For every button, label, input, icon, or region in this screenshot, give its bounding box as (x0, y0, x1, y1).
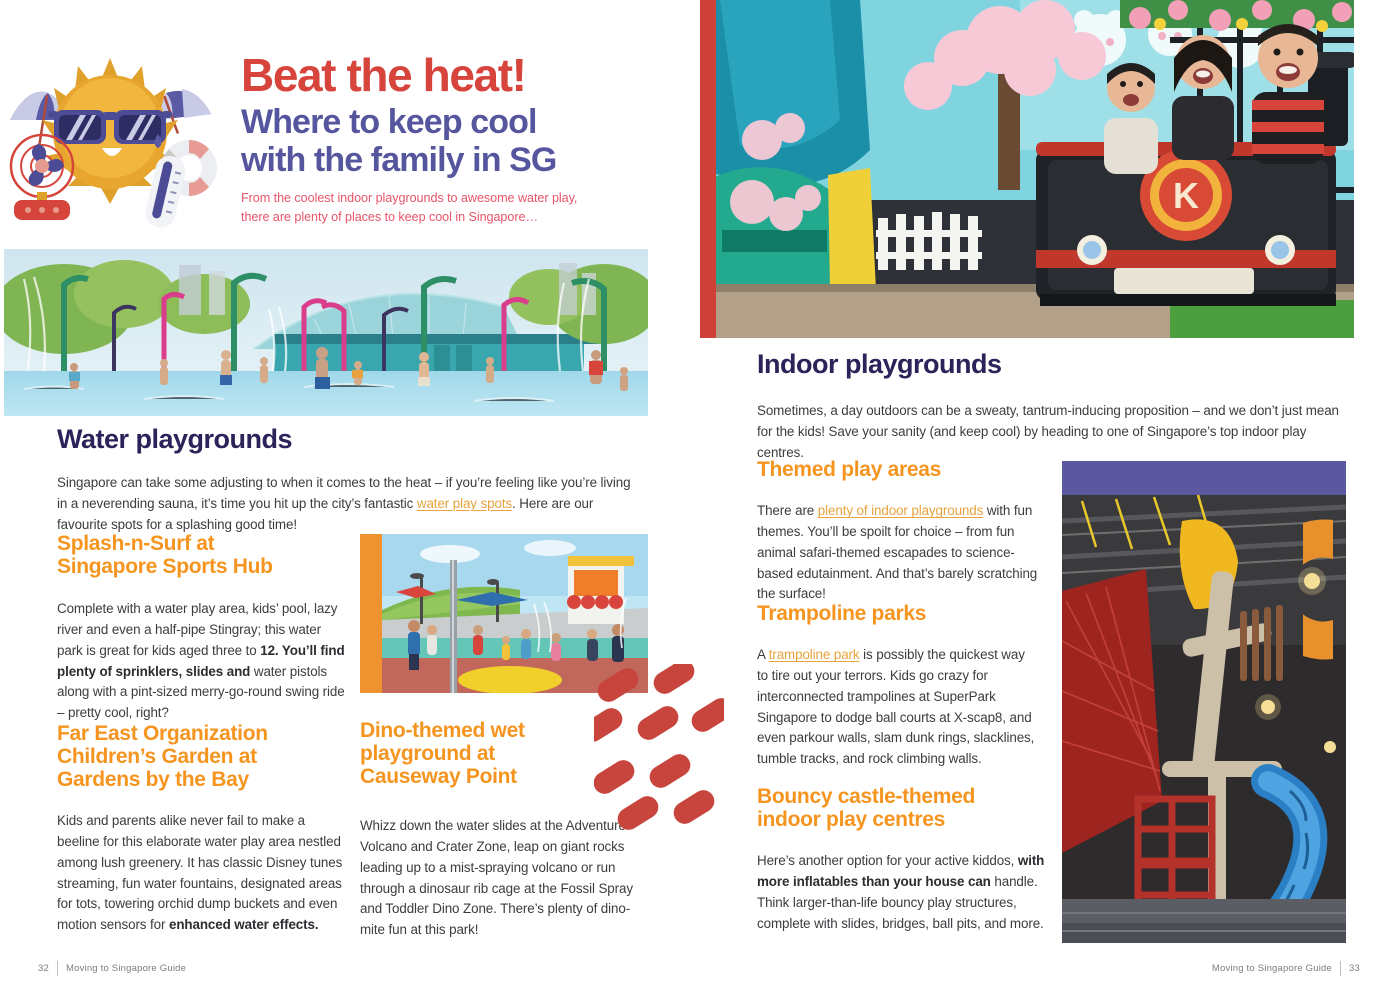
water-playground-banner-photo (4, 249, 648, 416)
subheading-themed-play-areas: Themed play areas (757, 458, 1047, 481)
tpa-text-pre: There are (757, 503, 818, 518)
trampoline-park-link[interactable]: trampoline park (769, 647, 860, 662)
footer-right: Moving to Singapore Guide 33 (1212, 961, 1360, 976)
bc-text-a: Here’s another option for your active ki… (757, 853, 1018, 868)
feo-text-bold: enhanced water effects. (169, 917, 319, 932)
section-heading-indoor-playgrounds: Indoor playgrounds (757, 350, 1347, 379)
magazine-spread: Beat the heat! Where to keep cool with t… (0, 0, 1400, 1000)
subheading-splash-n-surf: Splash-n-Surf at Singapore Sports Hub (57, 532, 347, 578)
water-play-spots-link[interactable]: water play spots (417, 496, 512, 511)
far-east-organization-body: Kids and parents alike never fail to mak… (57, 811, 347, 936)
water-playgrounds-heading-wrap: Water playgrounds (57, 425, 343, 463)
tp-text-post: is possibly the quickest way to tire out… (757, 647, 1034, 766)
title-block: Beat the heat! Where to keep cool with t… (241, 52, 661, 227)
splash-n-surf-body: Complete with a water play area, kids’ p… (57, 599, 347, 724)
subheading-trampoline-parks: Trampoline parks (757, 602, 1047, 625)
orange-arc-decoration (1303, 512, 1400, 667)
page-deck: From the coolest indoor playgrounds to a… (241, 189, 661, 227)
footer-page-number-right: 33 (1349, 963, 1360, 974)
indoor-playgrounds-link[interactable]: plenty of indoor playgrounds (818, 503, 983, 518)
footer-page-number-left: 32 (38, 963, 49, 974)
page-title-primary: Beat the heat! (241, 52, 661, 98)
tp-text-pre: A (757, 647, 769, 662)
footer-label-left: Moving to Singapore Guide (66, 963, 186, 974)
page-title-secondary: Where to keep cool with the family in SG (241, 103, 661, 179)
footer-divider-right (1340, 961, 1341, 976)
section-heading-water-playgrounds: Water playgrounds (57, 425, 343, 454)
themed-play-areas-body: There are plenty of indoor playgrounds w… (757, 501, 1039, 605)
footer-divider-left (57, 961, 58, 976)
trampoline-parks-body: A trampoline park is possibly the quicke… (757, 645, 1039, 770)
subheading-far-east-organization: Far East Organization Children’s Garden … (57, 722, 352, 791)
train-photo-red-accent-bar (700, 0, 716, 338)
sun-with-sunglasses-icon (6, 48, 221, 233)
left-page: Beat the heat! Where to keep cool with t… (0, 0, 700, 1000)
feo-text-a: Kids and parents alike never fail to mak… (57, 813, 342, 932)
footer-left: 32 Moving to Singapore Guide (38, 961, 186, 976)
subheading-bouncy-castle: Bouncy castle-themed indoor play centres (757, 785, 1047, 831)
subheading-dino-themed: Dino-themed wet playground at Causeway P… (360, 719, 620, 788)
indoor-playgrounds-lead-paragraph: Sometimes, a day outdoors can be a sweat… (757, 401, 1345, 463)
footer-label-right: Moving to Singapore Guide (1212, 963, 1332, 974)
water-playgrounds-lead-paragraph: Singapore can take some adjusting to whe… (57, 473, 635, 535)
bouncy-castle-body: Here’s another option for your active ki… (757, 851, 1047, 934)
svg-text:K: K (1173, 175, 1199, 216)
indoor-train-ride-photo: K (700, 0, 1354, 338)
